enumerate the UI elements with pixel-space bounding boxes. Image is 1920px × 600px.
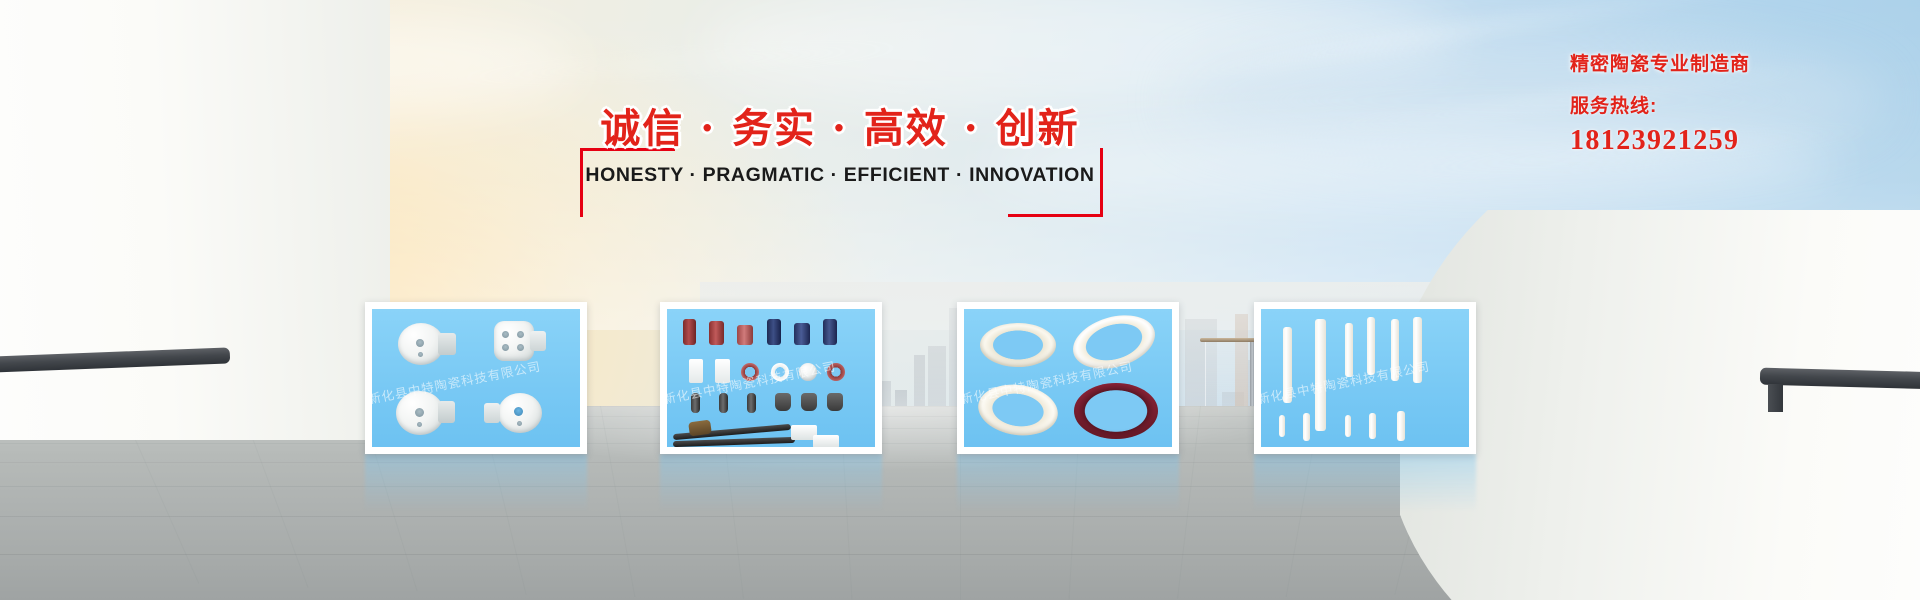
ceramic-ring bbox=[975, 380, 1061, 441]
ceramic-part bbox=[741, 363, 759, 381]
product-card-image: 新化县中特陶瓷科技有限公司 bbox=[667, 309, 875, 447]
ceramic-rod bbox=[1369, 413, 1376, 439]
ceramic-rod bbox=[1367, 317, 1375, 375]
ceramic-rod bbox=[1303, 413, 1310, 441]
ceramic-part bbox=[689, 359, 703, 383]
ceramic-part bbox=[709, 321, 724, 345]
card-reflection bbox=[365, 454, 587, 512]
ceramic-part bbox=[683, 319, 696, 345]
product-card-image: 新化县中特陶瓷科技有限公司 bbox=[964, 309, 1172, 447]
canopy-white-edge bbox=[1400, 210, 1920, 600]
hotline-label: 服务热线: bbox=[1570, 90, 1900, 124]
ceramic-rod bbox=[1345, 415, 1351, 437]
ceramic-rod bbox=[1283, 327, 1292, 403]
ceramic-part bbox=[438, 333, 456, 355]
page-title: 诚信 · 务实 · 高效 · 创新 bbox=[560, 100, 1120, 158]
ceramic-part bbox=[438, 401, 455, 423]
connector bbox=[813, 435, 839, 447]
ceramic-part bbox=[794, 323, 810, 345]
product-card-ceramic-insulator-bases[interactable]: 新化县中特陶瓷科技有限公司 bbox=[365, 302, 587, 454]
product-card-image: 新化县中特陶瓷科技有限公司 bbox=[372, 309, 580, 447]
product-card-image: 新化县中特陶瓷科技有限公司 bbox=[1261, 309, 1469, 447]
ceramic-part bbox=[484, 403, 500, 423]
ceramic-rod bbox=[1397, 411, 1405, 441]
ceramic-part bbox=[775, 393, 791, 411]
ceramic-part bbox=[827, 393, 843, 411]
page-subtitle: HONESTY · PRAGMATIC · EFFICIENT · INNOVA… bbox=[560, 164, 1120, 187]
ceramic-part bbox=[530, 331, 546, 351]
card-reflection bbox=[957, 454, 1179, 512]
terrace-bench-leg bbox=[1768, 384, 1783, 412]
ceramic-part bbox=[396, 391, 444, 435]
ceramic-part bbox=[801, 393, 817, 411]
floor-tile-line bbox=[600, 406, 635, 597]
product-card-ceramic-terminals[interactable]: 新化县中特陶瓷科技有限公司 bbox=[660, 302, 882, 454]
ceramic-part bbox=[771, 363, 789, 381]
company-slogan: 精密陶瓷专业制造商 bbox=[1570, 50, 1900, 80]
ceramic-ring-red bbox=[1074, 383, 1158, 439]
ceramic-part bbox=[494, 321, 534, 361]
ceramic-part bbox=[715, 359, 730, 383]
ceramic-rod bbox=[1315, 319, 1326, 431]
ceramic-part bbox=[767, 319, 781, 345]
ceramic-part bbox=[498, 393, 542, 433]
ceramic-part bbox=[827, 363, 845, 381]
ceramic-part bbox=[799, 363, 817, 381]
product-card-ceramic-rings[interactable]: 新化县中特陶瓷科技有限公司 bbox=[957, 302, 1179, 454]
contact-block: 精密陶瓷专业制造商 服务热线: 18123921259 bbox=[1570, 50, 1900, 158]
card-reflection bbox=[1254, 454, 1476, 512]
headline-group: 诚信 · 务实 · 高效 · 创新 HONESTY · PRAGMATIC · … bbox=[560, 100, 1120, 210]
ceramic-ring bbox=[1067, 309, 1162, 378]
ceramic-part bbox=[691, 393, 700, 413]
floor-tile-line bbox=[1177, 406, 1201, 599]
ceramic-rod bbox=[1279, 415, 1285, 437]
ceramic-rod bbox=[1345, 323, 1353, 377]
ceramic-ring bbox=[980, 323, 1056, 367]
ceramic-rod bbox=[1391, 319, 1399, 381]
ceramic-part bbox=[747, 393, 756, 413]
ceramic-part bbox=[719, 393, 728, 413]
canopy-right bbox=[1400, 210, 1920, 600]
canopy-left bbox=[0, 0, 390, 440]
hero-banner: 诚信 · 务实 · 高效 · 创新 HONESTY · PRAGMATIC · … bbox=[0, 0, 1920, 600]
hotline-number[interactable]: 18123921259 bbox=[1570, 124, 1900, 158]
canopy-white-edge bbox=[0, 0, 390, 440]
image-watermark: 新化县中特陶瓷科技有限公司 bbox=[1261, 343, 1469, 407]
card-reflection bbox=[660, 454, 882, 512]
ceramic-part bbox=[823, 319, 837, 345]
ceramic-rod bbox=[1413, 317, 1422, 383]
ceramic-part bbox=[737, 325, 753, 345]
product-card-ceramic-rods[interactable]: 新化县中特陶瓷科技有限公司 bbox=[1254, 302, 1476, 454]
